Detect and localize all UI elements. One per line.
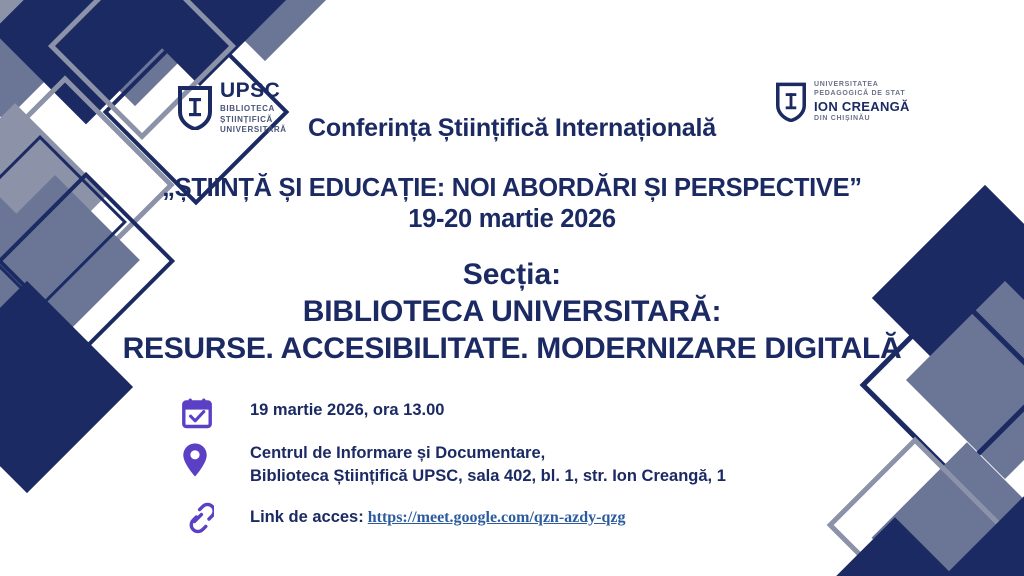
logo-creanga-top-line-1: UNIVERSITATEA: [814, 80, 910, 89]
heading-block: Conferința Științifică Internațională „Ș…: [0, 114, 1024, 368]
detail-row-date: 19 martie 2026, ora 13.00: [182, 396, 726, 429]
theme-dates: 19-20 martie 2026: [0, 204, 1024, 235]
section-title-line-1: BIBLIOTECA UNIVERSITARĂ:: [0, 293, 1024, 331]
conference-title: Conferința Științifică Internațională: [0, 114, 1024, 143]
location-pin-icon: [182, 441, 222, 478]
access-link-label: Link de acces:: [250, 508, 364, 526]
logo-creanga-top-line-2: PEDAGOGICĂ DE STAT: [814, 89, 910, 98]
event-location-text: Centrul de Informare și Documentare, Bib…: [222, 441, 726, 489]
theme-block: „ȘTIINȚĂ ȘI EDUCAȚIE: NOI ABORDĂRI ȘI PE…: [0, 173, 1024, 235]
chain-link-icon: [182, 501, 222, 534]
section-label: Secția:: [0, 257, 1024, 293]
detail-row-location: Centrul de Informare și Documentare, Bib…: [182, 441, 726, 489]
section-block: Secția: BIBLIOTECA UNIVERSITARĂ: RESURSE…: [0, 257, 1024, 368]
logo-upsc-sub-line-1: BIBLIOTECA: [220, 104, 287, 115]
logo-creanga-name: ION CREANGĂ: [814, 100, 910, 113]
section-title-line-2: RESURSE. ACCESIBILITATE. MODERNIZARE DIG…: [0, 330, 1024, 368]
location-line-2: Biblioteca Științifică UPSC, sala 402, b…: [250, 465, 726, 488]
access-link-url[interactable]: https://meet.google.com/qzn-azdy-qzg: [368, 509, 626, 526]
conference-poster: UPSC BIBLIOTECA ȘTIINȚIFICĂ UNIVERSITARĂ…: [0, 0, 1024, 576]
calendar-check-icon: [182, 396, 222, 429]
detail-row-link: Link de acces:https://meet.google.com/qz…: [182, 501, 726, 534]
event-date-text: 19 martie 2026, ora 13.00: [222, 396, 444, 422]
location-line-1: Centrul de Informare și Documentare,: [250, 442, 726, 465]
theme-title: „ȘTIINȚĂ ȘI EDUCAȚIE: NOI ABORDĂRI ȘI PE…: [0, 173, 1024, 204]
access-link-row: Link de acces:https://meet.google.com/qz…: [222, 501, 625, 530]
logo-upsc-acronym: UPSC: [220, 80, 287, 101]
event-details: 19 martie 2026, ora 13.00 Centrul de Inf…: [182, 396, 726, 534]
decoration-bottom-right: [817, 440, 1024, 576]
